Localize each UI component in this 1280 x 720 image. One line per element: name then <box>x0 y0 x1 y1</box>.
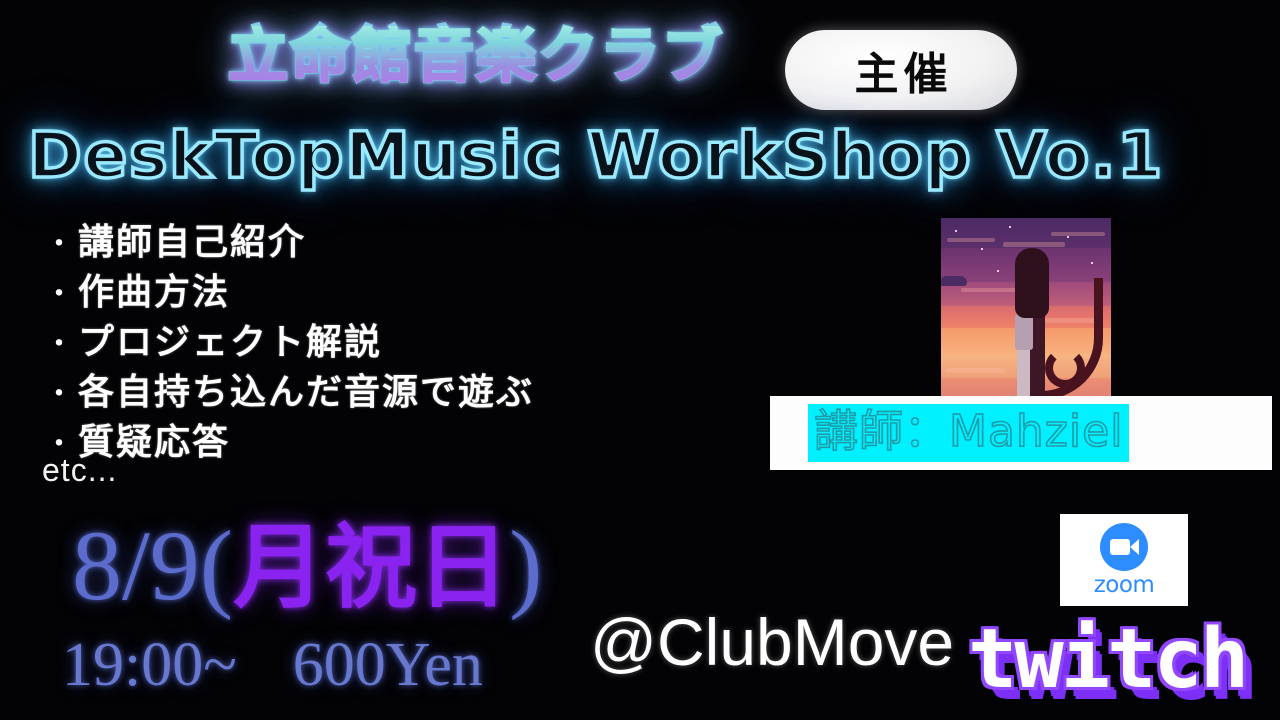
twitch-logo: twitch <box>968 612 1268 708</box>
list-item: ・ 各自持ち込んだ音源で遊ぶ <box>44 368 744 418</box>
bullet-icon: ・ <box>44 370 78 420</box>
artwork-cloud <box>947 238 995 242</box>
artwork-star <box>997 270 999 272</box>
bullet-icon: ・ <box>44 220 78 270</box>
artwork-star <box>981 248 983 250</box>
artwork-tail-curl <box>1045 348 1085 388</box>
list-item: ・ 質疑応答 <box>44 418 744 468</box>
agenda-list: ・ 講師自己紹介 ・ 作曲方法 ・ プロジェクト解説 ・ 各自持ち込んだ音源で遊… <box>44 218 744 468</box>
agenda-etc-label: etc... <box>42 452 117 489</box>
list-item: ・ プロジェクト解説 <box>44 318 744 368</box>
event-date-kanji: 月祝日 <box>233 514 509 621</box>
instructor-name-label: 講師：Mahziel <box>814 404 1123 460</box>
instructor-name-strip: 講師：Mahziel <box>770 396 1272 470</box>
agenda-item-label: 作曲方法 <box>78 268 230 318</box>
page-title: DeskTopMusic WorkShop Vo.1 <box>28 118 1280 194</box>
club-name: 立命館音楽クラブ <box>228 26 724 86</box>
event-poster: 立命館音楽クラブ 立命館音楽クラブ 主催 DeskTopMusic WorkSh… <box>0 0 1280 720</box>
artwork-cloud <box>1051 232 1105 236</box>
zoom-camera-lens <box>1130 539 1139 555</box>
zoom-wordmark-label: zoom <box>1094 573 1155 597</box>
artwork-star <box>1091 262 1093 264</box>
host-badge: 主催 <box>785 30 1017 110</box>
event-date-prefix: 8/9( <box>72 510 233 621</box>
instructor-artwork <box>941 218 1111 400</box>
host-badge-label: 主催 <box>850 38 953 102</box>
artwork-figure-leg <box>1017 348 1030 400</box>
artwork-rock <box>941 276 967 286</box>
event-date-suffix: ) <box>509 510 542 621</box>
agenda-item-label: プロジェクト解説 <box>78 318 382 368</box>
artwork-cloud <box>945 368 1005 373</box>
header-row: 立命館音楽クラブ 立命館音楽クラブ 主催 <box>0 22 1280 114</box>
event-time: 19:00~ <box>62 631 237 699</box>
list-item: ・ 講師自己紹介 <box>44 218 744 268</box>
agenda-item-label: 各自持ち込んだ音源で遊ぶ <box>78 368 534 418</box>
bullet-icon: ・ <box>44 270 78 320</box>
artwork-figure-shirt <box>1015 314 1033 350</box>
twitch-wordmark-label: twitch <box>968 612 1268 708</box>
instructor-name-highlight: 講師：Mahziel <box>808 404 1129 462</box>
bullet-icon: ・ <box>44 320 78 370</box>
artwork-cloud <box>1003 242 1065 247</box>
event-price: 600Yen <box>293 631 483 699</box>
event-date: 8/9(月祝日) <box>72 512 542 622</box>
artwork-star <box>1009 226 1011 228</box>
main-title-wrap: DeskTopMusic WorkShop Vo.1 <box>0 118 1280 194</box>
zoom-logo: zoom <box>1060 514 1188 606</box>
artwork-star <box>1067 236 1069 238</box>
artwork-star <box>955 230 957 232</box>
zoom-camera-icon <box>1100 523 1148 571</box>
zoom-camera-body <box>1110 539 1130 555</box>
list-item: ・ 作曲方法 <box>44 268 744 318</box>
agenda-item-label: 講師自己紹介 <box>78 218 306 268</box>
club-handle: @ClubMove <box>590 604 954 680</box>
artwork-figure-hair <box>1015 248 1049 318</box>
event-time-price: 19:00~600Yen <box>62 630 483 700</box>
